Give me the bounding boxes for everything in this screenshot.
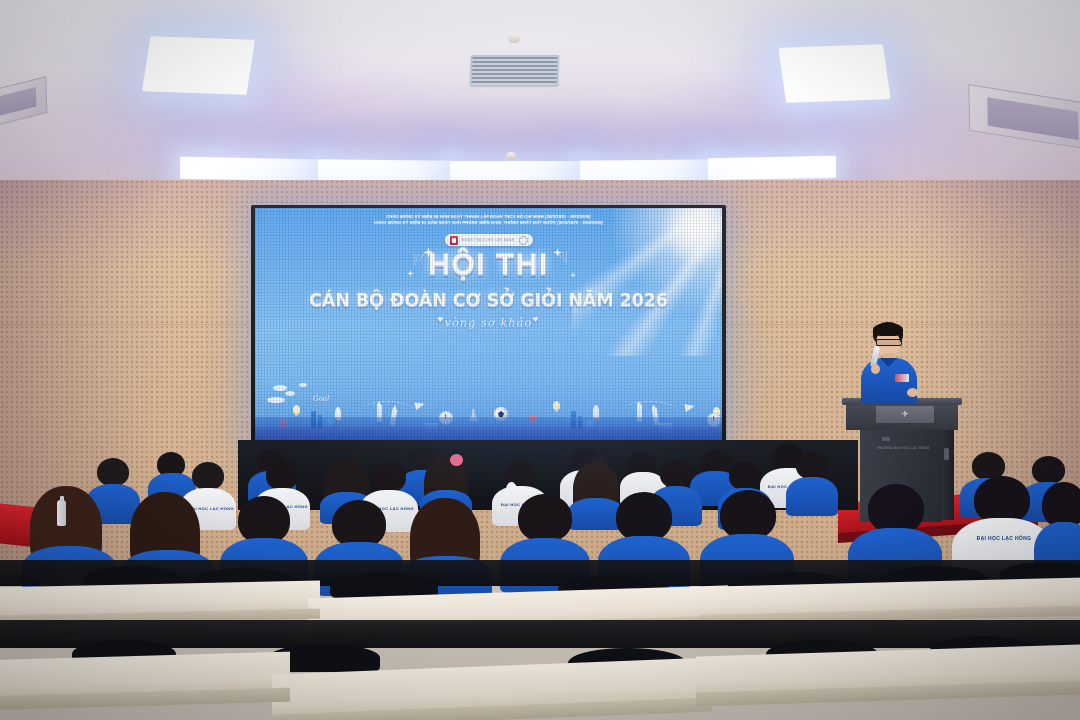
screen-main-title: HỘI THI — [428, 250, 549, 280]
badge-ring-icon — [519, 236, 528, 245]
speaker-fringe — [873, 323, 903, 336]
air-vent — [469, 55, 559, 87]
badge-label: ĐOÀN TNCS HỒ CHÍ MINH — [461, 238, 514, 242]
screen-title-block: HỘI THI — [255, 250, 722, 280]
lightbulb-icon — [553, 401, 560, 410]
screen-script-text: ♥vòng sơ khảo♥ — [255, 316, 722, 330]
heart-icon: ♥ — [532, 316, 539, 324]
podium-logo-plate: ✈ — [876, 406, 934, 423]
lightbulb-icon — [293, 405, 300, 414]
paper-plane-icon — [684, 402, 695, 412]
goal-label: Goal — [313, 395, 329, 403]
smoke-detector-icon — [508, 33, 520, 43]
smoke-detector-icon — [506, 152, 516, 160]
screen-header-line-2: CHÀO MỪNG KỶ NIỆM 51 NĂM NGÀY GIẢI PHÓNG… — [255, 220, 722, 226]
paper-plane-icon — [414, 400, 426, 410]
speaker-at-podium — [855, 322, 927, 408]
ceiling — [0, 0, 1080, 186]
podium-knob — [882, 437, 890, 441]
shirt-text: ĐẠI HỌC LẠC HỒNG — [974, 536, 1034, 542]
union-flag-icon — [449, 236, 457, 245]
ceiling-light-strip — [180, 157, 318, 182]
heart-icon: ♥ — [437, 316, 444, 324]
speaker-logo-patch — [895, 374, 909, 382]
podium-nameplate: TRƯỜNG ĐẠI HỌC LẠC HỒNG — [872, 446, 934, 450]
speaker-hand-right — [907, 388, 918, 397]
ceiling-light-strip — [708, 156, 836, 180]
ceiling-light-panel — [142, 36, 255, 95]
organization-badge: ĐOÀN TNCS HỒ CHÍ MINH — [444, 234, 532, 246]
water-bottle[interactable] — [57, 500, 66, 526]
conference-photo-scene: CHÀO MỪNG KỶ NIỆM 95 NĂM NGÀY THÀNH LẬP … — [0, 0, 1080, 720]
screen-subtitle: CÁN BỘ ĐOÀN CƠ SỞ GIỎI NĂM 2026 — [255, 292, 722, 311]
air-conditioner-unit — [968, 84, 1080, 150]
air-conditioner-unit — [0, 76, 47, 132]
screen-decoration-band: Goal — [255, 381, 722, 443]
speaker-hand — [871, 364, 880, 374]
podium-emblem-icon: ✈ — [901, 409, 909, 420]
led-screen: CHÀO MỪNG KỶ NIỆM 95 NĂM NGÀY THÀNH LẬP … — [255, 208, 722, 443]
ceiling-light-panel — [778, 44, 890, 103]
podium-control-button[interactable] — [944, 448, 949, 460]
glasses-icon — [876, 339, 902, 346]
